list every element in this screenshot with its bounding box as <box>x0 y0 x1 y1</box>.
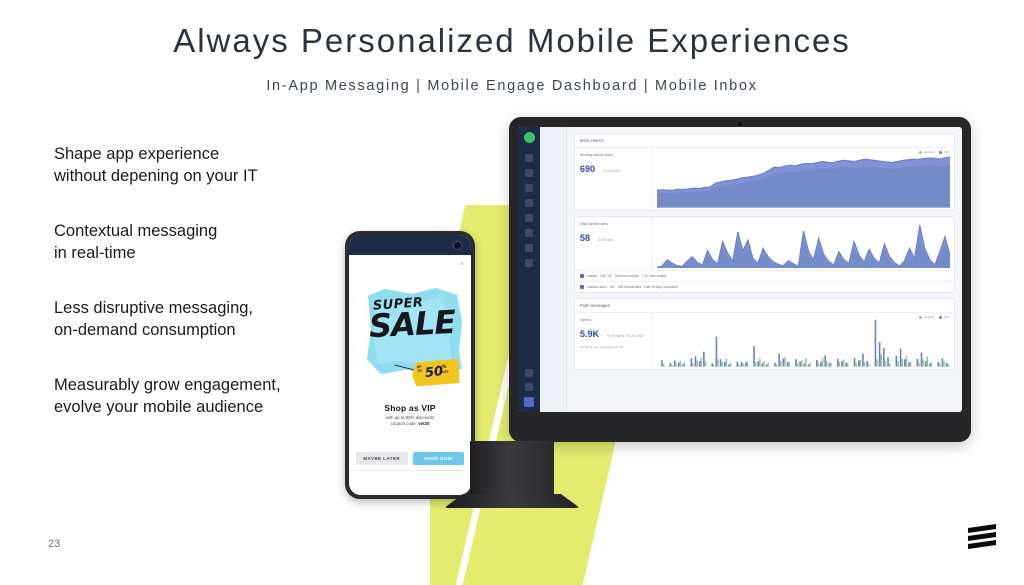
bullet-line: Shape app experience <box>54 143 354 165</box>
phone-mockup: × SUPER SALE UPTO 50 % OFF Shop as VIP <box>345 231 475 499</box>
settings-icon[interactable] <box>525 383 533 391</box>
row-extra: Total new installs <box>615 274 639 278</box>
message-headline: Shop as VIP <box>349 403 471 413</box>
dashboard-content: Main metrics Monthly active users 690 +1… <box>567 127 962 412</box>
metric-value: 690 <box>580 164 595 174</box>
metric-value: 58 <box>580 233 590 243</box>
checkbox-icon[interactable] <box>580 274 584 278</box>
card-title: Main metrics <box>575 134 954 148</box>
phone-status-bar <box>349 235 471 255</box>
phone-home-area <box>349 470 471 495</box>
monitor-stand-neck <box>470 441 554 503</box>
legend-item-android: android <box>919 150 934 154</box>
bullet-list: Shape app experience without depening on… <box>54 143 354 451</box>
area-chart-plot <box>657 151 950 208</box>
row-value: 108 / 4K <box>600 274 612 278</box>
chart-legend: android iOS <box>919 315 949 319</box>
bullet-line: Measurably grow engagement, <box>54 374 354 396</box>
phone-screen: × SUPER SALE UPTO 50 % OFF Shop as VIP <box>349 235 471 495</box>
chart-push-opens: android iOS <box>653 313 954 369</box>
chart-legend: android iOS <box>919 150 949 154</box>
account-icon[interactable] <box>524 397 534 407</box>
subtext-line2-label: coupon code: <box>391 421 417 426</box>
sidebar-item-automation[interactable] <box>525 214 533 222</box>
chart-monthly-active-users: android iOS <box>653 148 954 210</box>
sidebar-item-segments[interactable] <box>525 184 533 192</box>
metric-opens: Opens 5.9K +6.7% WoW - in Oct 2020 26.7%… <box>575 313 653 369</box>
subtext-line1: with up to 50% discounts <box>386 415 435 420</box>
list-item: Shape app experience without depening on… <box>54 143 354 187</box>
page-subtitle: In-App Messaging | Mobile Engage Dashboa… <box>0 78 1024 94</box>
page-title: Always Personalized Mobile Experiences <box>0 22 1024 60</box>
bullet-line: Less disruptive messaging, <box>54 297 354 319</box>
monitor-stand-base <box>444 494 580 508</box>
in-app-message: × SUPER SALE UPTO 50 % OFF Shop as VIP <box>349 255 471 470</box>
bullet-line: in real-time <box>54 242 354 264</box>
card-main-metrics: Main metrics Monthly active users 690 +1… <box>574 133 955 211</box>
sidebar-item-help[interactable] <box>525 259 533 267</box>
page-number: 23 <box>48 538 60 550</box>
table-row[interactable]: Inactive users 402 404 Reactivated Last … <box>575 281 954 292</box>
bullet-line: without depening on your IT <box>54 165 354 187</box>
tag-up-label: UPTO <box>417 365 423 374</box>
webcam-icon <box>738 122 742 126</box>
sidebar-item-campaigns[interactable] <box>525 169 533 177</box>
row-label: Inactive users <box>587 285 607 289</box>
message-actions: MAYBE LATER SHOP NOW <box>356 452 464 465</box>
sidebar-item-inbox[interactable] <box>525 199 533 207</box>
bullet-line: Contextual messaging <box>54 220 354 242</box>
maybe-later-button[interactable]: MAYBE LATER <box>356 452 408 465</box>
row-extra2: 1.2K New installs <box>642 274 666 278</box>
card-daily-active: Daily active users 58 -3.4% DoD Installs <box>574 216 955 294</box>
bar-chart-plot <box>657 316 950 367</box>
legend-item-ios: iOS <box>939 315 949 319</box>
legend-item-ios: iOS <box>939 150 949 154</box>
monitor-mockup: Main metrics Monthly active users 690 +1… <box>509 117 971 442</box>
bullet-line: on-demand consumption <box>54 319 354 341</box>
checkbox-icon[interactable] <box>580 285 584 289</box>
dashboard-sidebar <box>518 127 540 412</box>
card-title: Push messages <box>575 299 954 313</box>
creative-sale: SALE <box>368 306 456 342</box>
sidebar-item-analytics[interactable] <box>525 229 533 237</box>
dashboard-secondary-rail <box>540 127 567 412</box>
list-item: Less disruptive messaging, on-demand con… <box>54 297 354 341</box>
sidebar-item-dashboard[interactable] <box>525 154 533 162</box>
sidebar-item-editor[interactable] <box>525 244 533 252</box>
metric-daily-active-users: Daily active users 58 -3.4% DoD <box>575 217 653 271</box>
row-extra: 404 Reactivated <box>618 285 641 289</box>
sidebar-bottom-group <box>524 369 534 407</box>
tag-off-label: OFF <box>442 370 449 375</box>
app-logo-icon <box>524 132 535 143</box>
area-chart-plot <box>657 220 950 269</box>
row-value: 402 <box>610 285 615 289</box>
message-subtext: with up to 50% discounts coupon code: vv… <box>349 415 471 427</box>
coupon-code: vvt20 <box>418 421 429 426</box>
slide-root: Always Personalized Mobile Experiences I… <box>0 0 1024 576</box>
metric-delta: -3.4% DoD <box>597 238 613 242</box>
legend-item-android: android <box>919 315 934 319</box>
collapse-icon[interactable] <box>525 369 533 377</box>
metric-label: Opens <box>580 318 647 322</box>
close-icon[interactable]: × <box>460 261 464 268</box>
metric-label: Daily active users <box>580 222 647 226</box>
list-item: Contextual messaging in real-time <box>54 220 354 264</box>
table-row[interactable]: Installs 108 / 4K Total new installs 1.2… <box>575 270 954 281</box>
chart-daily-active-users <box>653 217 954 271</box>
card-push-messages: Push messages Opens 5.9K +6.7% WoW - in … <box>574 298 955 370</box>
metric-monthly-active-users: Monthly active users 690 +1.2% MoM <box>575 148 653 210</box>
metric-note: 26.7% of sent messages (2.1K) <box>580 345 647 349</box>
metric-label: Monthly active users <box>580 153 647 157</box>
metric-delta: +6.7% WoW - in Oct 2020 <box>606 334 643 338</box>
dashboard-screen: Main metrics Monthly active users 690 +1… <box>518 127 962 412</box>
metric-value: 5.9K <box>580 329 599 339</box>
row-extra2: Last 30 days uninstalled <box>644 285 678 289</box>
camera-icon <box>453 241 462 250</box>
card-body: Monthly active users 690 +1.2% MoM andro… <box>575 148 954 210</box>
shop-now-button[interactable]: SHOP NOW <box>413 452 465 465</box>
list-item: Measurably grow engagement, evolve your … <box>54 374 354 418</box>
ericsson-logo-icon <box>966 522 1000 554</box>
sale-creative: SUPER SALE UPTO 50 % OFF <box>357 281 470 396</box>
card-body: Daily active users 58 -3.4% DoD <box>575 217 954 271</box>
bullet-line: evolve your mobile audience <box>54 396 354 418</box>
row-label: Installs <box>587 274 597 278</box>
metric-delta: +1.2% MoM <box>602 169 619 173</box>
card-sub-rows: Installs 108 / 4K Total new installs 1.2… <box>575 270 954 292</box>
card-body: Opens 5.9K +6.7% WoW - in Oct 2020 26.7%… <box>575 313 954 369</box>
